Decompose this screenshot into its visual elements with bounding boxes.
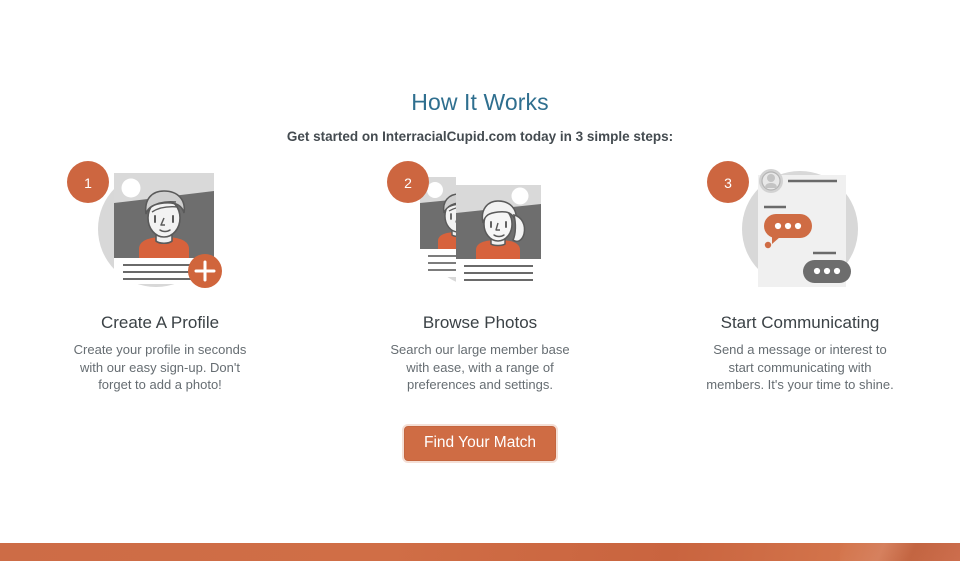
incoming-typing-dot-3 <box>795 223 801 229</box>
incoming-bubble-dot-small <box>765 242 771 248</box>
sun-icon <box>122 179 141 198</box>
step-1-description: Create your profile in seconds with our … <box>65 341 255 394</box>
incoming-typing-dot-2 <box>785 223 791 229</box>
outgoing-typing-dot-3 <box>834 268 840 274</box>
step-badge-number: 2 <box>404 175 412 191</box>
step-badge-number: 3 <box>724 175 732 191</box>
front-sun-icon <box>512 188 529 205</box>
step-badge-number: 1 <box>84 175 92 191</box>
incoming-typing-dot-1 <box>775 223 781 229</box>
step-1-title: Create A Profile <box>101 312 219 334</box>
step-2-description: Search our large member base with ease, … <box>385 341 575 394</box>
band-highlight-streak <box>840 543 960 561</box>
step-3-description: Send a message or interest to start comm… <box>700 341 900 394</box>
page-subtitle: Get started on InterracialCupid.com toda… <box>0 128 960 146</box>
step-card-3: 3 Start Communicating Send a message or … <box>640 155 960 394</box>
step-2-title: Browse Photos <box>423 312 537 334</box>
cta-block: Find Your Match <box>0 426 960 461</box>
back-sun-icon <box>427 182 443 198</box>
how-it-works-section: How It Works Get started on InterracialC… <box>0 0 960 561</box>
outgoing-typing-dot-1 <box>814 268 820 274</box>
find-your-match-button[interactable]: Find Your Match <box>404 426 556 461</box>
step-card-1: 1 Create A Profile Create your profile i… <box>0 155 320 394</box>
step-1-illustration: 1 <box>60 155 260 295</box>
heading-block: How It Works Get started on InterracialC… <box>0 88 960 146</box>
bottom-accent-band <box>0 543 960 561</box>
avatar-head <box>767 174 775 182</box>
step-card-2: 2 Browse Photos Search our large member … <box>320 155 640 394</box>
step-3-title: Start Communicating <box>721 312 880 334</box>
page-title: How It Works <box>0 88 960 116</box>
outgoing-typing-dot-2 <box>824 268 830 274</box>
step-3-illustration: 3 <box>700 155 900 295</box>
step-2-illustration: 2 <box>380 155 580 295</box>
steps-row: 1 Create A Profile Create your profile i… <box>0 155 960 394</box>
